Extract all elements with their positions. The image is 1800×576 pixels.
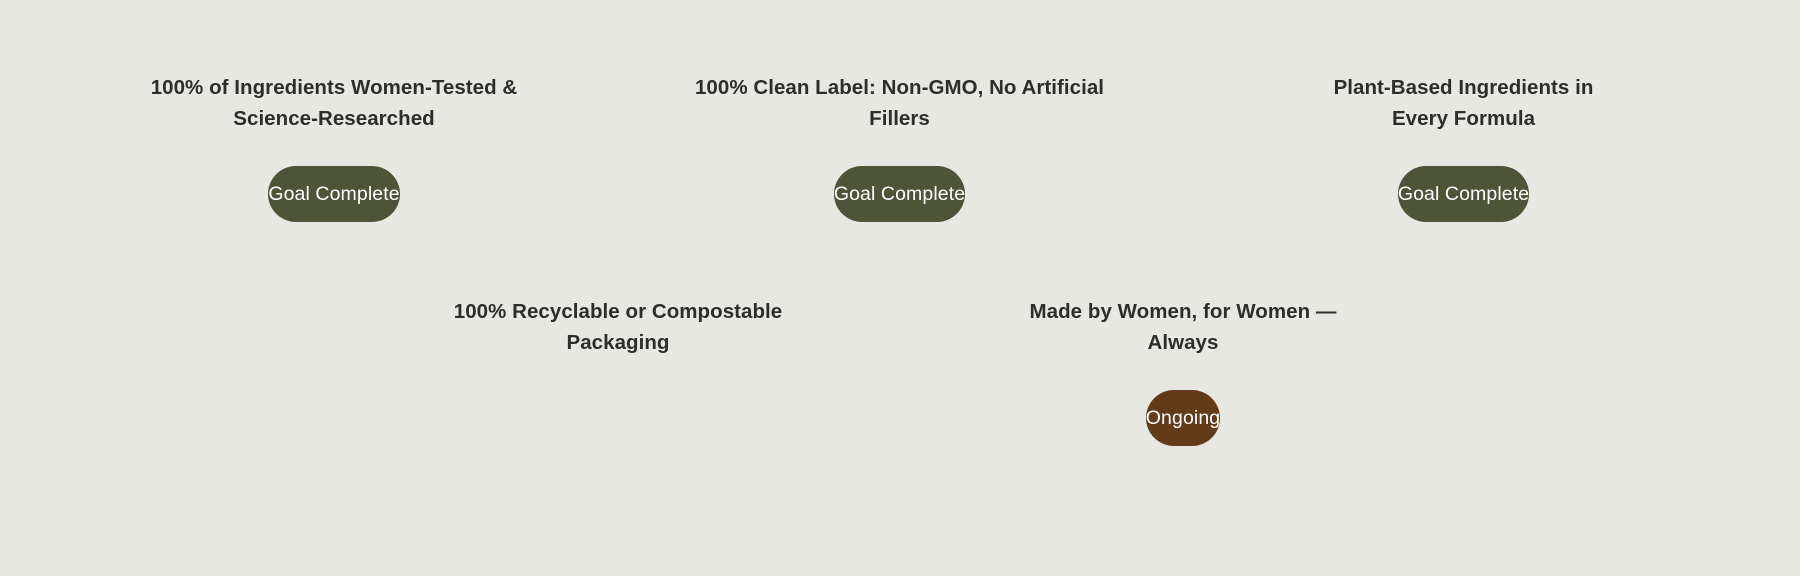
goal-card-plant-based: Plant-Based Ingredients in Every Formula…: [1207, 72, 1720, 222]
goals-row-top: 100% of Ingredients Women-Tested & Scien…: [0, 72, 1800, 222]
goal-status-pill-complete[interactable]: Goal Complete: [268, 166, 399, 222]
goal-title: Made by Women, for Women — Always: [1030, 296, 1337, 358]
goal-card-ingredients-tested: 100% of Ingredients Women-Tested & Scien…: [80, 72, 588, 222]
goal-card-made-by-women: Made by Women, for Women — Always Ongoin…: [928, 296, 1438, 446]
goal-title: 100% of Ingredients Women-Tested & Scien…: [151, 72, 518, 134]
goal-status-pill-complete[interactable]: Goal Complete: [1398, 166, 1529, 222]
goal-title: 100% Recyclable or Compostable Packaging: [454, 296, 783, 358]
goals-row-bottom: 100% Recyclable or Compostable Packaging…: [0, 296, 1800, 446]
goal-card-packaging: 100% Recyclable or Compostable Packaging…: [362, 296, 874, 446]
goal-status-pill-complete[interactable]: Goal Complete: [834, 166, 965, 222]
goal-title: 100% Clean Label: Non-GMO, No Artificial…: [695, 72, 1104, 134]
goal-title: Plant-Based Ingredients in Every Formula: [1334, 72, 1594, 134]
goals-board: 100% of Ingredients Women-Tested & Scien…: [0, 0, 1800, 576]
goal-card-clean-label: 100% Clean Label: Non-GMO, No Artificial…: [646, 72, 1153, 222]
goal-status-pill-ongoing[interactable]: Ongoing: [1146, 390, 1220, 446]
